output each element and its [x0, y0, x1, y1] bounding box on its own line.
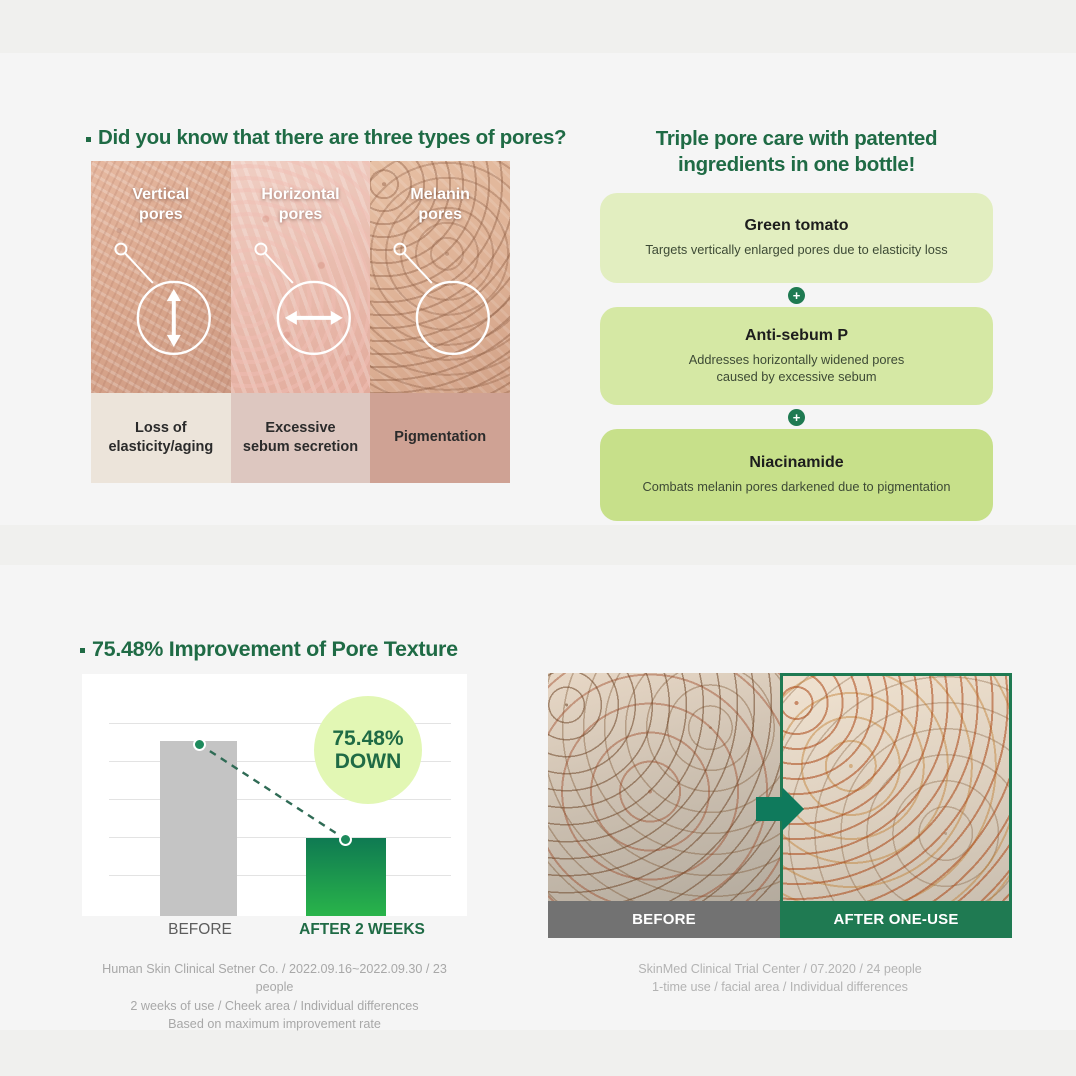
ingredient-desc: Targets vertically enlarged pores due to… [645, 241, 947, 258]
section-divider-band [0, 525, 1076, 565]
axis-label-before: BEFORE [120, 921, 280, 939]
plus-connector-1: + [600, 283, 993, 307]
ingredient-desc: Combats melanin pores darkened due to pi… [642, 478, 950, 495]
plus-connector-2: + [600, 405, 993, 429]
before-after-comparison: BEFORE AFTER ONE-USE [548, 673, 1012, 938]
ingredients-heading: Triple pore care with patented ingredien… [600, 126, 993, 178]
after-panel: AFTER ONE-USE [780, 673, 1012, 938]
plus-icon: + [788, 287, 805, 304]
ingredient-name: Anti-sebum P [745, 327, 848, 345]
horizontal-pores-caption: Excessive sebum secretion [231, 393, 371, 483]
chart-plot-area: 75.48% DOWN [82, 674, 467, 916]
improvement-heading: 75.48% Improvement of Pore Texture [80, 637, 458, 662]
chart-footnote: Human Skin Clinical Setner Co. / 2022.09… [82, 960, 467, 1033]
right-arrow-icon [752, 781, 808, 837]
trend-line [82, 674, 467, 916]
vertical-pores-photo: Vertical pores [91, 161, 231, 393]
magnifier-horizontal-arrow-icon [231, 161, 371, 393]
pore-texture-bar-chart: 75.48% DOWN [82, 674, 467, 916]
improvement-heading-text: 75.48% Improvement of Pore Texture [92, 637, 458, 662]
horizontal-pores-photo: Horizontal pores [231, 161, 371, 393]
pores-heading: Did you know that there are three types … [86, 126, 566, 150]
data-point-before [193, 738, 206, 751]
magnifier-vertical-arrow-icon [91, 161, 231, 393]
melanin-pores-photo: Melanin pores [370, 161, 510, 393]
before-after-footnote: SkinMed Clinical Trial Center / 07.2020 … [548, 960, 1012, 997]
after-skin-photo [780, 673, 1012, 901]
ingredient-card-niacinamide[interactable]: Niacinamide Combats melanin pores darken… [600, 429, 993, 521]
bullet-square-icon [80, 648, 85, 653]
magnifier-dots-icon [370, 161, 510, 393]
top-band [0, 0, 1076, 53]
pores-heading-text: Did you know that there are three types … [98, 126, 566, 150]
data-point-after [339, 833, 352, 846]
bottom-band [0, 1030, 1076, 1076]
improvement-badge: 75.48% DOWN [314, 696, 422, 804]
badge-percent: 75.48% [332, 727, 403, 750]
ingredient-name: Niacinamide [749, 454, 843, 472]
bullet-square-icon [86, 137, 91, 142]
axis-label-after: AFTER 2 WEEKS [262, 921, 462, 939]
before-skin-photo [548, 673, 780, 901]
ingredient-desc: Addresses horizontally widened pores cau… [689, 351, 905, 386]
vertical-pores-caption: Loss of elasticity/aging [91, 393, 231, 483]
pore-column-melanin: Melanin pores Pigmentation [370, 161, 510, 483]
plus-icon: + [788, 409, 805, 426]
melanin-pores-caption: Pigmentation [370, 393, 510, 483]
pore-column-horizontal: Horizontal pores Excessive sebum secreti… [231, 161, 371, 483]
ingredient-card-green-tomato[interactable]: Green tomato Targets vertically enlarged… [600, 193, 993, 283]
ingredients-list: Green tomato Targets vertically enlarged… [600, 193, 993, 521]
ingredient-name: Green tomato [744, 217, 848, 235]
badge-direction: DOWN [335, 750, 402, 773]
before-panel: BEFORE [548, 673, 780, 938]
after-label: AFTER ONE-USE [780, 901, 1012, 938]
pore-column-vertical: Vertical pores Loss of elasticity/aging [91, 161, 231, 483]
ingredient-card-anti-sebum-p[interactable]: Anti-sebum P Addresses horizontally wide… [600, 307, 993, 405]
before-label: BEFORE [548, 901, 780, 938]
pore-types-strip: Vertical pores Loss of elasticity/aging … [91, 161, 510, 483]
